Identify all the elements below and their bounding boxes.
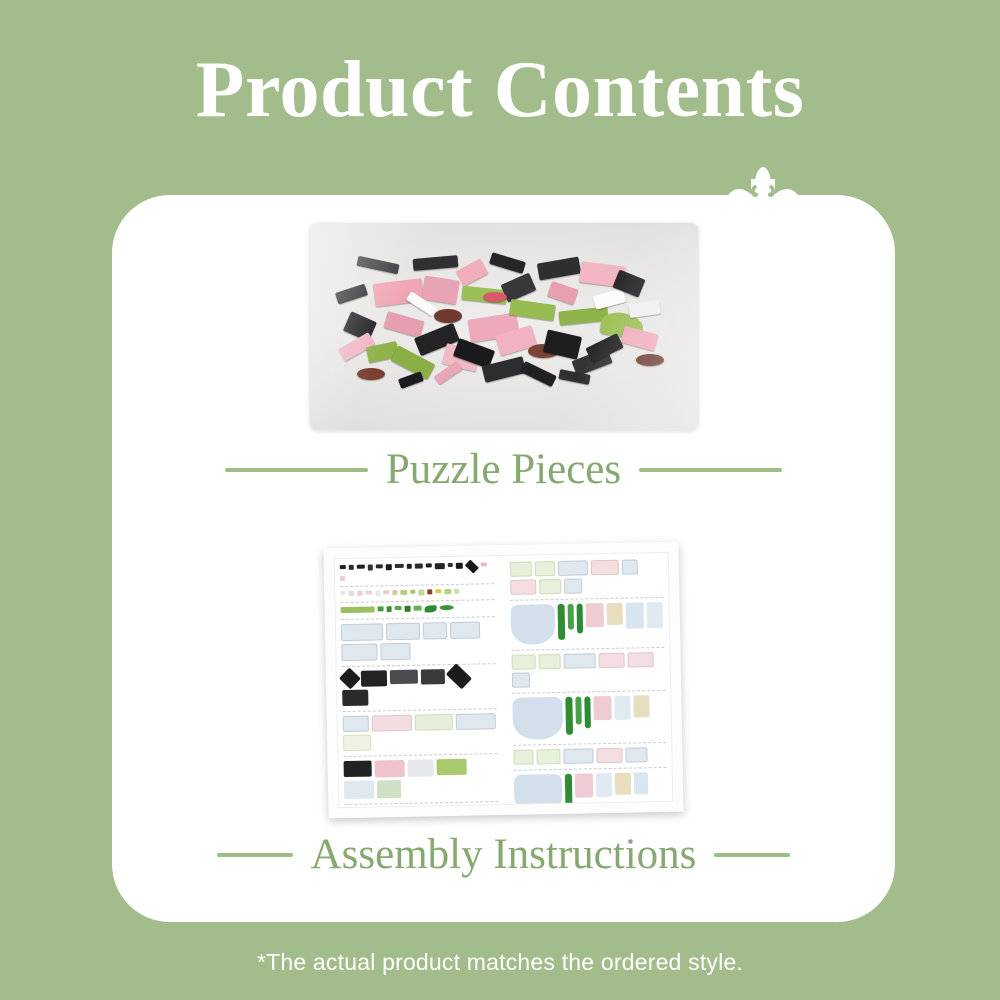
parts-inventory-band bbox=[340, 583, 494, 597]
build-band bbox=[510, 597, 664, 645]
assembly-instructions-photo bbox=[326, 545, 681, 815]
divider-left bbox=[217, 853, 293, 857]
caption-assembly-instructions: Assembly Instructions bbox=[311, 833, 697, 876]
content-card: Puzzle Pieces bbox=[112, 195, 895, 922]
puzzle-piece-icon bbox=[725, 163, 801, 205]
section-assembly-instructions: Assembly Instructions bbox=[112, 545, 895, 876]
parts-inventory-band bbox=[340, 599, 494, 614]
brick-pile bbox=[329, 240, 678, 414]
parts-inventory-band bbox=[340, 562, 494, 581]
booklet-spread bbox=[334, 552, 674, 808]
puzzle-pieces-photo bbox=[310, 223, 698, 430]
footer-disclaimer: *The actual product matches the ordered … bbox=[0, 949, 1000, 976]
build-band bbox=[513, 767, 667, 804]
step-band bbox=[343, 708, 497, 751]
divider-left bbox=[225, 468, 368, 472]
step-band bbox=[341, 616, 495, 661]
booklet-right-page bbox=[504, 553, 672, 804]
caption-puzzle-pieces: Puzzle Pieces bbox=[386, 448, 621, 491]
build-band bbox=[343, 753, 497, 799]
build-band bbox=[342, 663, 496, 706]
instruction-booklet-graphic bbox=[323, 542, 683, 819]
page-title: Product Contents bbox=[0, 48, 1000, 132]
section-puzzle-pieces: Puzzle Pieces bbox=[112, 223, 895, 491]
step-band bbox=[511, 647, 665, 688]
step-band bbox=[344, 801, 498, 807]
divider-right bbox=[714, 853, 790, 857]
divider-right bbox=[639, 468, 782, 472]
build-band bbox=[512, 690, 666, 740]
caption-row-assembly-instructions: Assembly Instructions bbox=[112, 833, 895, 876]
step-band bbox=[509, 559, 663, 595]
caption-row-puzzle-pieces: Puzzle Pieces bbox=[112, 448, 895, 491]
step-band bbox=[513, 742, 667, 765]
booklet-left-page bbox=[335, 556, 503, 807]
polybag-graphic bbox=[310, 223, 698, 430]
